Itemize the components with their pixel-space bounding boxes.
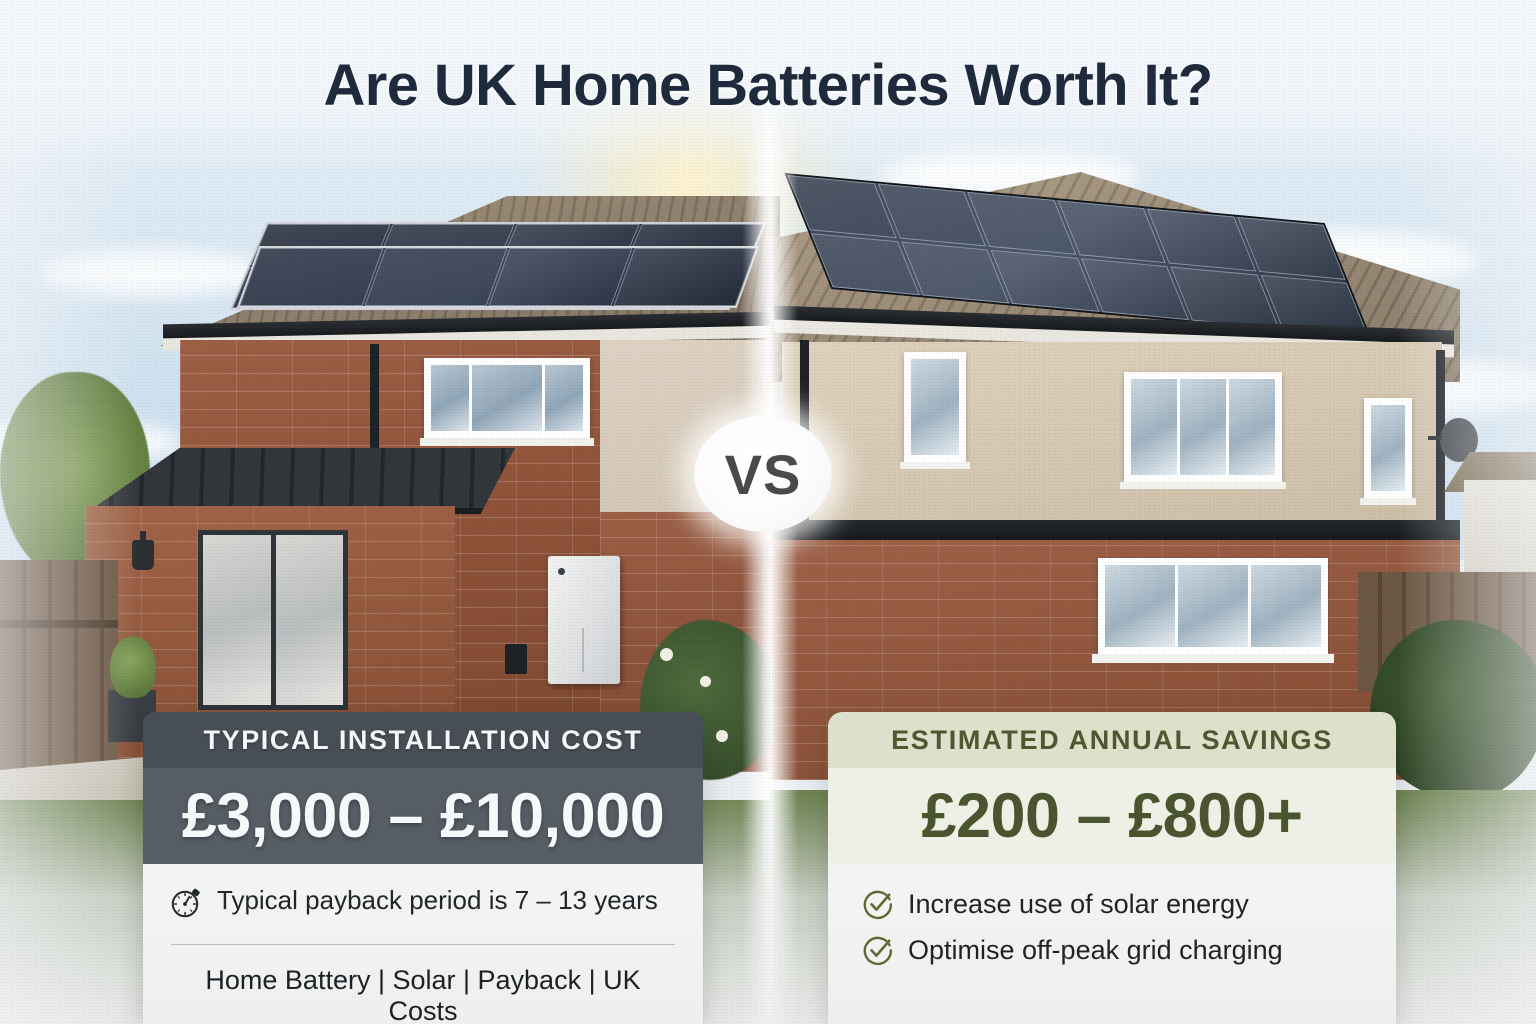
benefit-item: Optimise off-peak grid charging — [862, 934, 1396, 966]
left-card-value-band: £3,000 – £10,000 — [143, 768, 703, 864]
left-card-header-label: TYPICAL INSTALLATION COST — [204, 725, 643, 756]
annual-savings-value: £200 – £800+ — [921, 780, 1302, 852]
check-circle-icon — [862, 934, 894, 966]
right-card-header-label: ESTIMATED ANNUAL SAVINGS — [891, 725, 1333, 756]
page-title: Are UK Home Batteries Worth It? — [0, 52, 1536, 119]
right-card-body: Increase use of solar energy Optimise of… — [828, 864, 1396, 1024]
right-card-header: ESTIMATED ANNUAL SAVINGS — [828, 712, 1396, 768]
divider-rule — [171, 944, 675, 945]
annual-savings-card: ESTIMATED ANNUAL SAVINGS £200 – £800+ In… — [828, 712, 1396, 1024]
benefit-label: Increase use of solar energy — [908, 889, 1249, 920]
benefit-item: Increase use of solar energy — [862, 888, 1396, 920]
infographic-canvas: Are UK Home Batteries Worth It? VS TYPIC… — [0, 0, 1536, 1024]
stopwatch-icon — [169, 882, 203, 918]
payback-note: Typical payback period is 7 – 13 years — [169, 882, 677, 918]
vs-badge: VS — [694, 416, 832, 532]
right-card-value-band: £200 – £800+ — [828, 768, 1396, 864]
left-card-header: TYPICAL INSTALLATION COST — [143, 712, 703, 768]
benefit-label: Optimise off-peak grid charging — [908, 935, 1283, 966]
installation-cost-value: £3,000 – £10,000 — [182, 780, 664, 852]
topic-tags: Home Battery | Solar | Payback | UK Cost… — [169, 965, 677, 1024]
left-card-body: Typical payback period is 7 – 13 years H… — [143, 864, 703, 1024]
vs-label: VS — [725, 442, 802, 507]
payback-note-label: Typical payback period is 7 – 13 years — [217, 885, 658, 916]
installation-cost-card: TYPICAL INSTALLATION COST £3,000 – £10,0… — [143, 712, 703, 1024]
check-circle-icon — [862, 888, 894, 920]
